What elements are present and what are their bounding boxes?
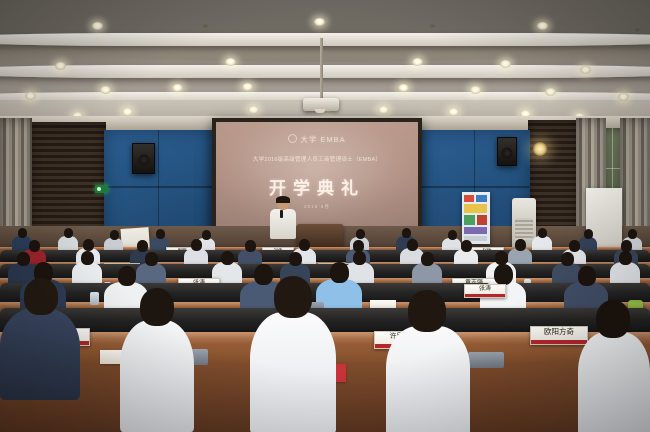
- university-logo-icon: [288, 134, 297, 143]
- downlight-icon: [545, 88, 556, 96]
- downlight-off-icon: [633, 27, 642, 33]
- downlight-icon: [55, 62, 66, 70]
- placard-name: 张涛: [465, 285, 505, 292]
- downlight-icon: [580, 66, 591, 74]
- downlight-icon: [225, 58, 236, 66]
- presenter-body: [270, 209, 296, 239]
- conference-hall-photo: 大学 EMBA 大学2016级高级管理人员工商管理硕士（EMBA） 开学典礼 2…: [0, 0, 650, 432]
- attendee-foreground: [120, 288, 194, 432]
- downlight-icon: [618, 93, 629, 101]
- wall-speaker-right: [497, 137, 517, 166]
- downlight-icon: [100, 86, 111, 94]
- name-placard: 张涛: [464, 284, 506, 298]
- downlight-icon: [92, 22, 103, 30]
- projection-screen: 大学 EMBA 大学2016级高级管理人员工商管理硕士（EMBA） 开学典礼 2…: [216, 122, 418, 230]
- attendee: [184, 239, 208, 266]
- attendee: [58, 228, 78, 252]
- mobile-phone: [90, 292, 99, 305]
- ceiling-rib-2: [0, 65, 650, 78]
- downlight-icon: [122, 108, 133, 116]
- exit-sign: [95, 185, 108, 193]
- downlight-icon: [314, 18, 325, 26]
- attendee: [412, 252, 442, 284]
- attendee-foreground: [0, 278, 80, 398]
- attendee: [104, 230, 123, 252]
- attendee: [454, 240, 478, 266]
- slide-subtitle: 大学2016级高级管理人员工商管理硕士（EMBA）: [216, 155, 418, 163]
- slide-date: 2016·9月: [216, 204, 418, 210]
- wall-sconce-light: [533, 142, 547, 156]
- microphone-icon: [280, 210, 283, 218]
- slide-header-text: 大学 EMBA: [300, 135, 345, 144]
- attendee: [610, 251, 640, 284]
- downlight-icon: [378, 106, 389, 114]
- ceiling-rib-1: [0, 33, 650, 46]
- downlight-icon: [537, 22, 548, 30]
- downlight-icon: [448, 108, 459, 116]
- downlight-icon: [25, 92, 36, 100]
- attendee: [532, 228, 552, 252]
- downlight-off-icon: [428, 23, 437, 29]
- downlight-icon: [500, 60, 511, 68]
- attendee-foreground-right: [386, 290, 470, 432]
- attendee-foreground-center: [250, 276, 336, 432]
- attendee-foreground-far-right: [578, 300, 650, 432]
- downlight-icon: [242, 83, 253, 91]
- downlight-icon: [470, 86, 481, 94]
- wall-speaker-left: [132, 143, 155, 174]
- notebook-device: [468, 352, 504, 368]
- poster-board: [462, 192, 490, 244]
- downlight-icon: [398, 84, 409, 92]
- slide-title: 开学典礼: [216, 174, 418, 199]
- slide-header: 大学 EMBA: [216, 134, 418, 145]
- presenter-speaking: [268, 197, 298, 239]
- downlight-icon: [248, 106, 259, 114]
- projector-mount-rod: [320, 38, 323, 100]
- downlight-icon: [412, 58, 423, 66]
- ceiling-projector: [303, 98, 339, 111]
- ceiling: [0, 0, 650, 118]
- presenter-hair: [276, 196, 290, 203]
- downlight-off-icon: [201, 23, 210, 29]
- downlight-icon: [172, 84, 183, 92]
